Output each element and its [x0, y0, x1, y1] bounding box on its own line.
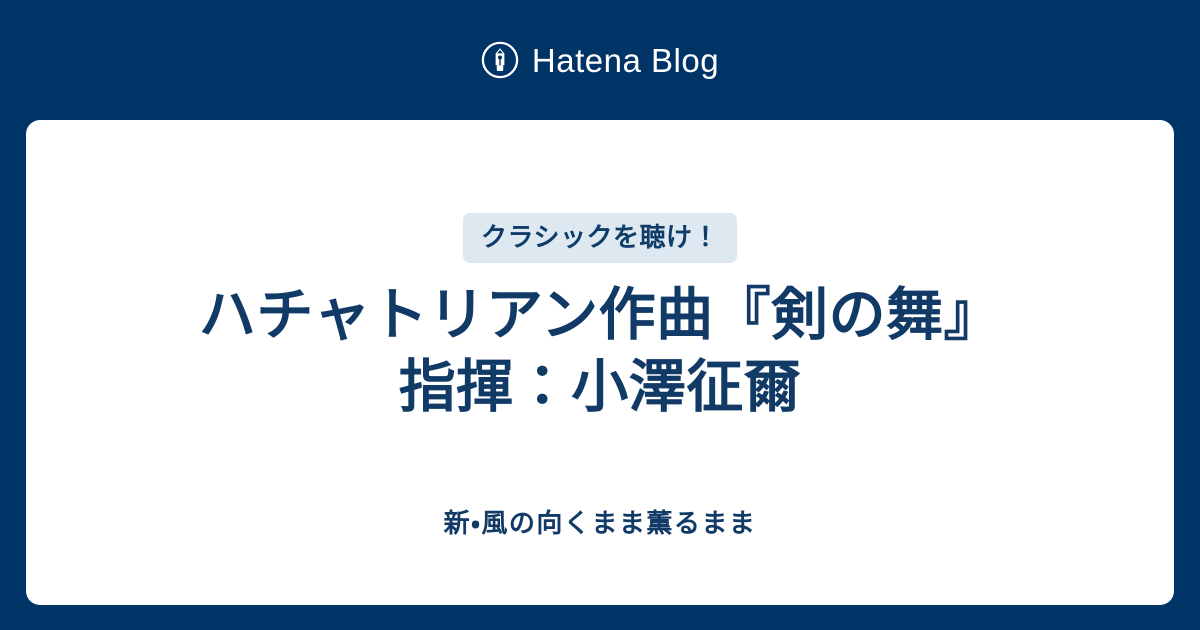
entry-card: クラシックを聴け！ ハチャトリアン作曲『剣の舞』 指揮：小澤征爾 新・風の向くま… [26, 120, 1174, 605]
og-card-root: Hatena Blog クラシックを聴け！ ハチャトリアン作曲『剣の舞』 指揮：… [0, 0, 1200, 630]
entry-title-line-2: 指揮：小澤征爾 [76, 352, 1124, 424]
category-badge-row: クラシックを聴け！ [26, 213, 1174, 263]
hatena-blog-brand-bar: Hatena Blog [0, 0, 1200, 120]
pen-nib-icon [481, 41, 519, 79]
category-badge[interactable]: クラシックを聴け！ [463, 213, 737, 263]
entry-title: ハチャトリアン作曲『剣の舞』 指揮：小澤征爾 [76, 280, 1124, 424]
blog-name[interactable]: 新・風の向くまま薫るまま [444, 510, 757, 536]
blog-name-row: 新・風の向くまま薫るまま [26, 510, 1174, 536]
hatena-blog-wordmark: Hatena Blog [532, 44, 719, 77]
entry-card-inner: クラシックを聴け！ ハチャトリアン作曲『剣の舞』 指揮：小澤征爾 新・風の向くま… [26, 120, 1174, 605]
entry-title-line-1: ハチャトリアン作曲『剣の舞』 [76, 280, 1124, 352]
hatena-logo [481, 41, 519, 79]
